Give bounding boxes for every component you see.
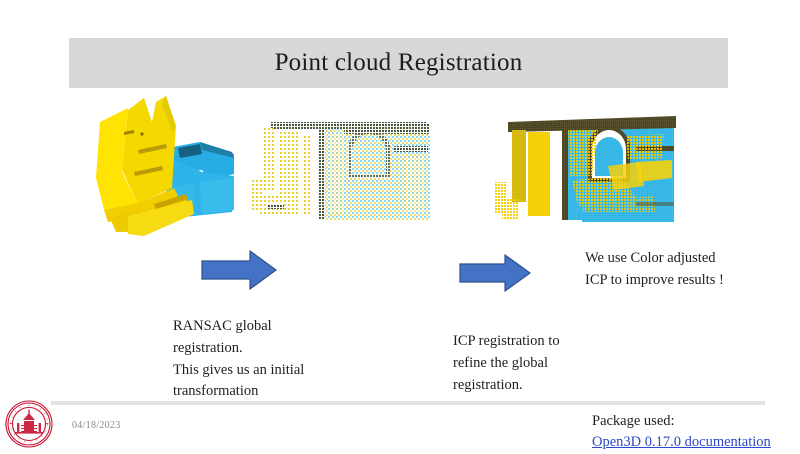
arrow-ransac: [200, 248, 278, 292]
caption-icp: ICP registration to refine the global re…: [453, 331, 633, 396]
page-title: Point cloud Registration: [275, 49, 523, 77]
figure-icp-result: [486, 106, 686, 236]
footer-divider: [51, 401, 765, 405]
figure-initial-alignment: [82, 92, 242, 242]
title-banner: Point cloud Registration: [69, 38, 728, 88]
caption-colored-icp: We use Color adjusted ICP to improve res…: [585, 248, 785, 292]
northeastern-university-seal-icon: [4, 399, 54, 449]
caption-ransac: RANSAC global registration. This gives u…: [173, 316, 373, 403]
package-used-label: Package used:: [592, 413, 675, 429]
footer-date: 04/18/2023: [72, 420, 121, 431]
slide-canvas: Point cloud Registration: [0, 0, 800, 450]
figure-ransac-result: [244, 100, 440, 240]
arrow-icp: [458, 252, 532, 294]
footer-package-used: Package used: Open3D 0.17.0 documentatio…: [592, 411, 771, 453]
